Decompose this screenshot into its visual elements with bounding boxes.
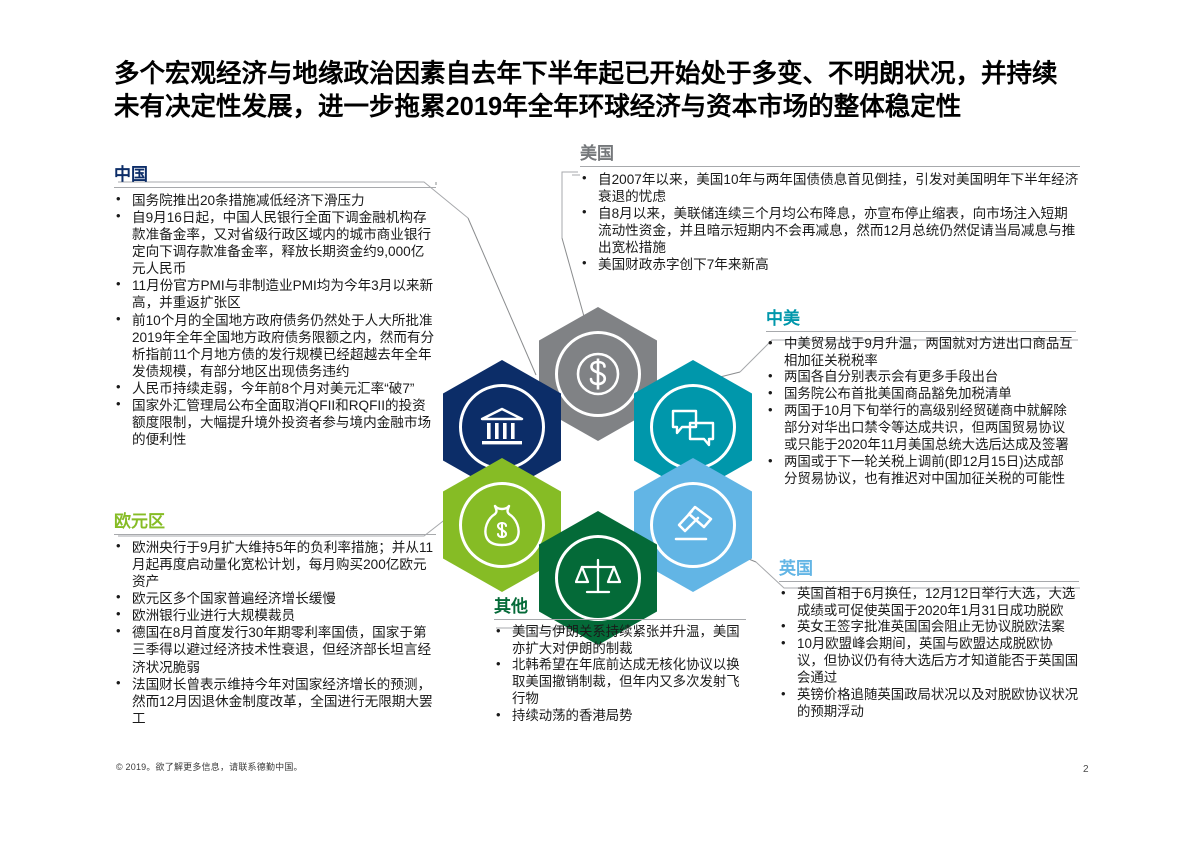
- callout-uk: 英国 英国首相于6月换任，12月12日举行大选，大选成绩或可促使英国于2020年…: [779, 560, 1079, 721]
- list-item: 国务院推出20条措施减低经济下滑压力: [114, 192, 436, 209]
- callout-uk-rule: [779, 581, 1079, 582]
- callout-eurozone-rule: [114, 534, 436, 535]
- callout-china-heading: 中国: [114, 166, 436, 185]
- list-item: 两国于10月下旬举行的高级别经贸磋商中就解除部分对华出口禁令等达成共识，但两国贸…: [766, 403, 1076, 454]
- slide-canvas: 多个宏观经济与地缘政治因素自去年下半年起已开始处于多变、不明朗状况，并持续未有决…: [0, 0, 1190, 841]
- list-item: 英女王签字批准英国国会阻止无协议脱欧法案: [779, 619, 1079, 636]
- page-number: 2: [1083, 764, 1089, 775]
- callout-china-us-rule: [766, 331, 1076, 332]
- list-item: 两国各自分别表示会有更多手段出台: [766, 369, 1076, 386]
- callout-other-list: 美国与伊朗关系持续紧张并升温，美国亦扩大对伊朗的制裁 北韩希望在年底前达成无核化…: [494, 624, 746, 725]
- list-item: 国务院公布首批美国商品豁免加税清单: [766, 386, 1076, 403]
- callout-eurozone: 欧元区 欧洲央行于9月扩大维持5年的负利率措施；并从11月起再度启动量化宽松计划…: [114, 513, 436, 727]
- callout-eurozone-list: 欧洲央行于9月扩大维持5年的负利率措施；并从11月起再度启动量化宽松计划，每月购…: [114, 539, 436, 727]
- list-item: 北韩希望在年底前达成无核化协议以换取美国撤销制裁，但年内又多次发射飞行物: [494, 657, 746, 708]
- money-bag-icon: [459, 482, 545, 568]
- callout-other: 其他 美国与伊朗关系持续紧张并升温，美国亦扩大对伊朗的制裁 北韩希望在年底前达成…: [494, 598, 746, 725]
- list-item: 两国或于下一轮关税上调前(即12月15日)达成部分贸易协议，也有推迟对中国加征关…: [766, 454, 1076, 488]
- list-item: 国家外汇管理局公布全面取消QFII和RQFII的投资额度限制，大幅提升境外投资者…: [114, 397, 436, 448]
- list-item: 自8月以来，美联储连续三个月均公布降息，亦宣布停止缩表，向市场注入短期流动性资金…: [580, 205, 1080, 256]
- list-item: 德国在8月首度发行30年期零利率国债，国家于第三季得以避过经济技术性衰退，但经济…: [114, 624, 436, 675]
- list-item: 英国首相于6月换任，12月12日举行大选，大选成绩或可促使英国于2020年1月3…: [779, 586, 1079, 620]
- callout-us-rule: [580, 166, 1080, 167]
- callout-eurozone-heading: 欧元区: [114, 513, 436, 532]
- dollar-coin-icon: [555, 331, 641, 417]
- callout-uk-heading: 英国: [779, 560, 1079, 579]
- list-item: 前10个月的全国地方政府债务仍然处于人大所批准2019年全年全国地方政府债务限额…: [114, 312, 436, 381]
- chat-bubbles-icon: [650, 384, 736, 470]
- list-item: 美国财政赤字创下7年来新高: [580, 256, 1080, 273]
- list-item: 人民币持续走弱，今年前8个月对美元汇率“破7”: [114, 380, 436, 397]
- callout-china-us-heading: 中美: [766, 310, 1076, 329]
- callout-us-list: 自2007年以来，美国10年与两年国债债息首见倒挂，引发对美国明年下半年经济衰退…: [580, 171, 1080, 274]
- copyright-footer: © 2019。欲了解更多信息，请联系德勤中国。: [116, 760, 303, 773]
- callout-other-heading: 其他: [494, 598, 746, 617]
- callout-china-list: 国务院推出20条措施减低经济下滑压力 自9月16日起，中国人民银行全面下调金融机…: [114, 192, 436, 449]
- callout-china: 中国 国务院推出20条措施减低经济下滑压力 自9月16日起，中国人民银行全面下调…: [114, 166, 436, 449]
- list-item: 法国财长曾表示维持今年对国家经济增长的预测，然而12月因退休金制度改革，全国进行…: [114, 676, 436, 727]
- list-item: 自2007年以来，美国10年与两年国债债息首见倒挂，引发对美国明年下半年经济衰退…: [580, 171, 1080, 205]
- callout-other-rule: [494, 619, 746, 620]
- callout-china-us: 中美 中美贸易战于9月升温，两国就对方进出口商品互相加征关税税率 两国各自分别表…: [766, 310, 1076, 488]
- list-item: 持续动荡的香港局势: [494, 708, 746, 725]
- list-item: 欧元区多个国家普遍经济增长缓慢: [114, 590, 436, 607]
- list-item: 11月份官方PMI与非制造业PMI均为今年3月以来新高，并重返扩张区: [114, 277, 436, 311]
- callout-us: 美国 自2007年以来，美国10年与两年国债债息首见倒挂，引发对美国明年下半年经…: [580, 145, 1080, 273]
- gavel-icon: [650, 482, 736, 568]
- list-item: 欧洲央行于9月扩大维持5年的负利率措施；并从11月起再度启动量化宽松计划，每月购…: [114, 539, 436, 590]
- callout-uk-list: 英国首相于6月换任，12月12日举行大选，大选成绩或可促使英国于2020年1月3…: [779, 586, 1079, 721]
- list-item: 中美贸易战于9月升温，两国就对方进出口商品互相加征关税税率: [766, 336, 1076, 370]
- list-item: 10月欧盟峰会期间，英国与欧盟达成脱欧协议，但协议仍有待大选后方才知道能否于英国…: [779, 636, 1079, 687]
- list-item: 美国与伊朗关系持续紧张并升温，美国亦扩大对伊朗的制裁: [494, 624, 746, 658]
- callout-china-rule: [114, 187, 436, 188]
- bank-building-icon: [459, 384, 545, 470]
- callout-china-us-list: 中美贸易战于9月升温，两国就对方进出口商品互相加征关税税率 两国各自分别表示会有…: [766, 336, 1076, 488]
- list-item: 自9月16日起，中国人民银行全面下调金融机构存款准备金率，又对省级行政区域内的城…: [114, 209, 436, 278]
- list-item: 欧洲银行业进行大规模裁员: [114, 607, 436, 624]
- list-item: 英镑价格追随英国政局状况以及对脱欧协议状况的预期浮动: [779, 687, 1079, 721]
- callout-us-heading: 美国: [580, 145, 1080, 164]
